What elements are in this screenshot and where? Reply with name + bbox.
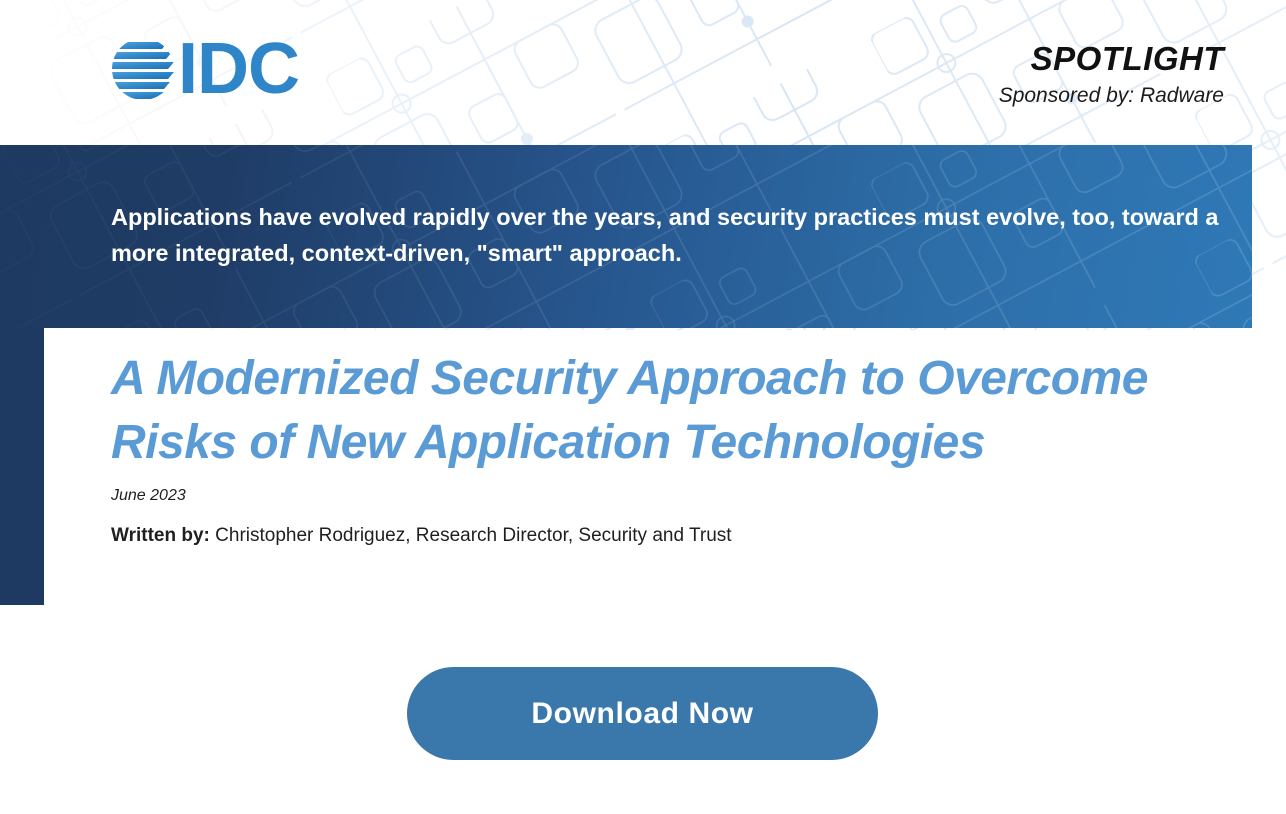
author-value: Christopher Rodriguez, Research Director… [210,525,732,546]
author-label: Written by: [111,525,210,546]
download-now-button[interactable]: Download Now [407,667,878,760]
spotlight-branding: SPOTLIGHT Sponsored by: Radware [999,40,1224,108]
spotlight-landing-page: IDC SPOTLIGHT Sponsored by: Radware [0,0,1286,814]
idc-logo[interactable]: IDC [110,36,299,102]
idc-logo-wordmark: IDC [178,36,299,102]
page-header: IDC SPOTLIGHT Sponsored by: Radware [0,0,1286,145]
hero-banner: Applications have evolved rapidly over t… [0,145,1252,328]
cta-section: Download Now [0,605,1286,814]
page-title: A Modernized Security Approach to Overco… [111,347,1271,475]
publish-date: June 2023 [111,487,186,505]
sponsor-label: Sponsored by: Radware [999,84,1224,108]
document-card: A Modernized Security Approach to Overco… [44,330,1286,605]
author-line: Written by: Christopher Rodriguez, Resea… [111,525,732,547]
banner-headline: Applications have evolved rapidly over t… [111,199,1221,271]
spotlight-label: SPOTLIGHT [999,40,1224,78]
idc-globe-icon [110,36,176,102]
